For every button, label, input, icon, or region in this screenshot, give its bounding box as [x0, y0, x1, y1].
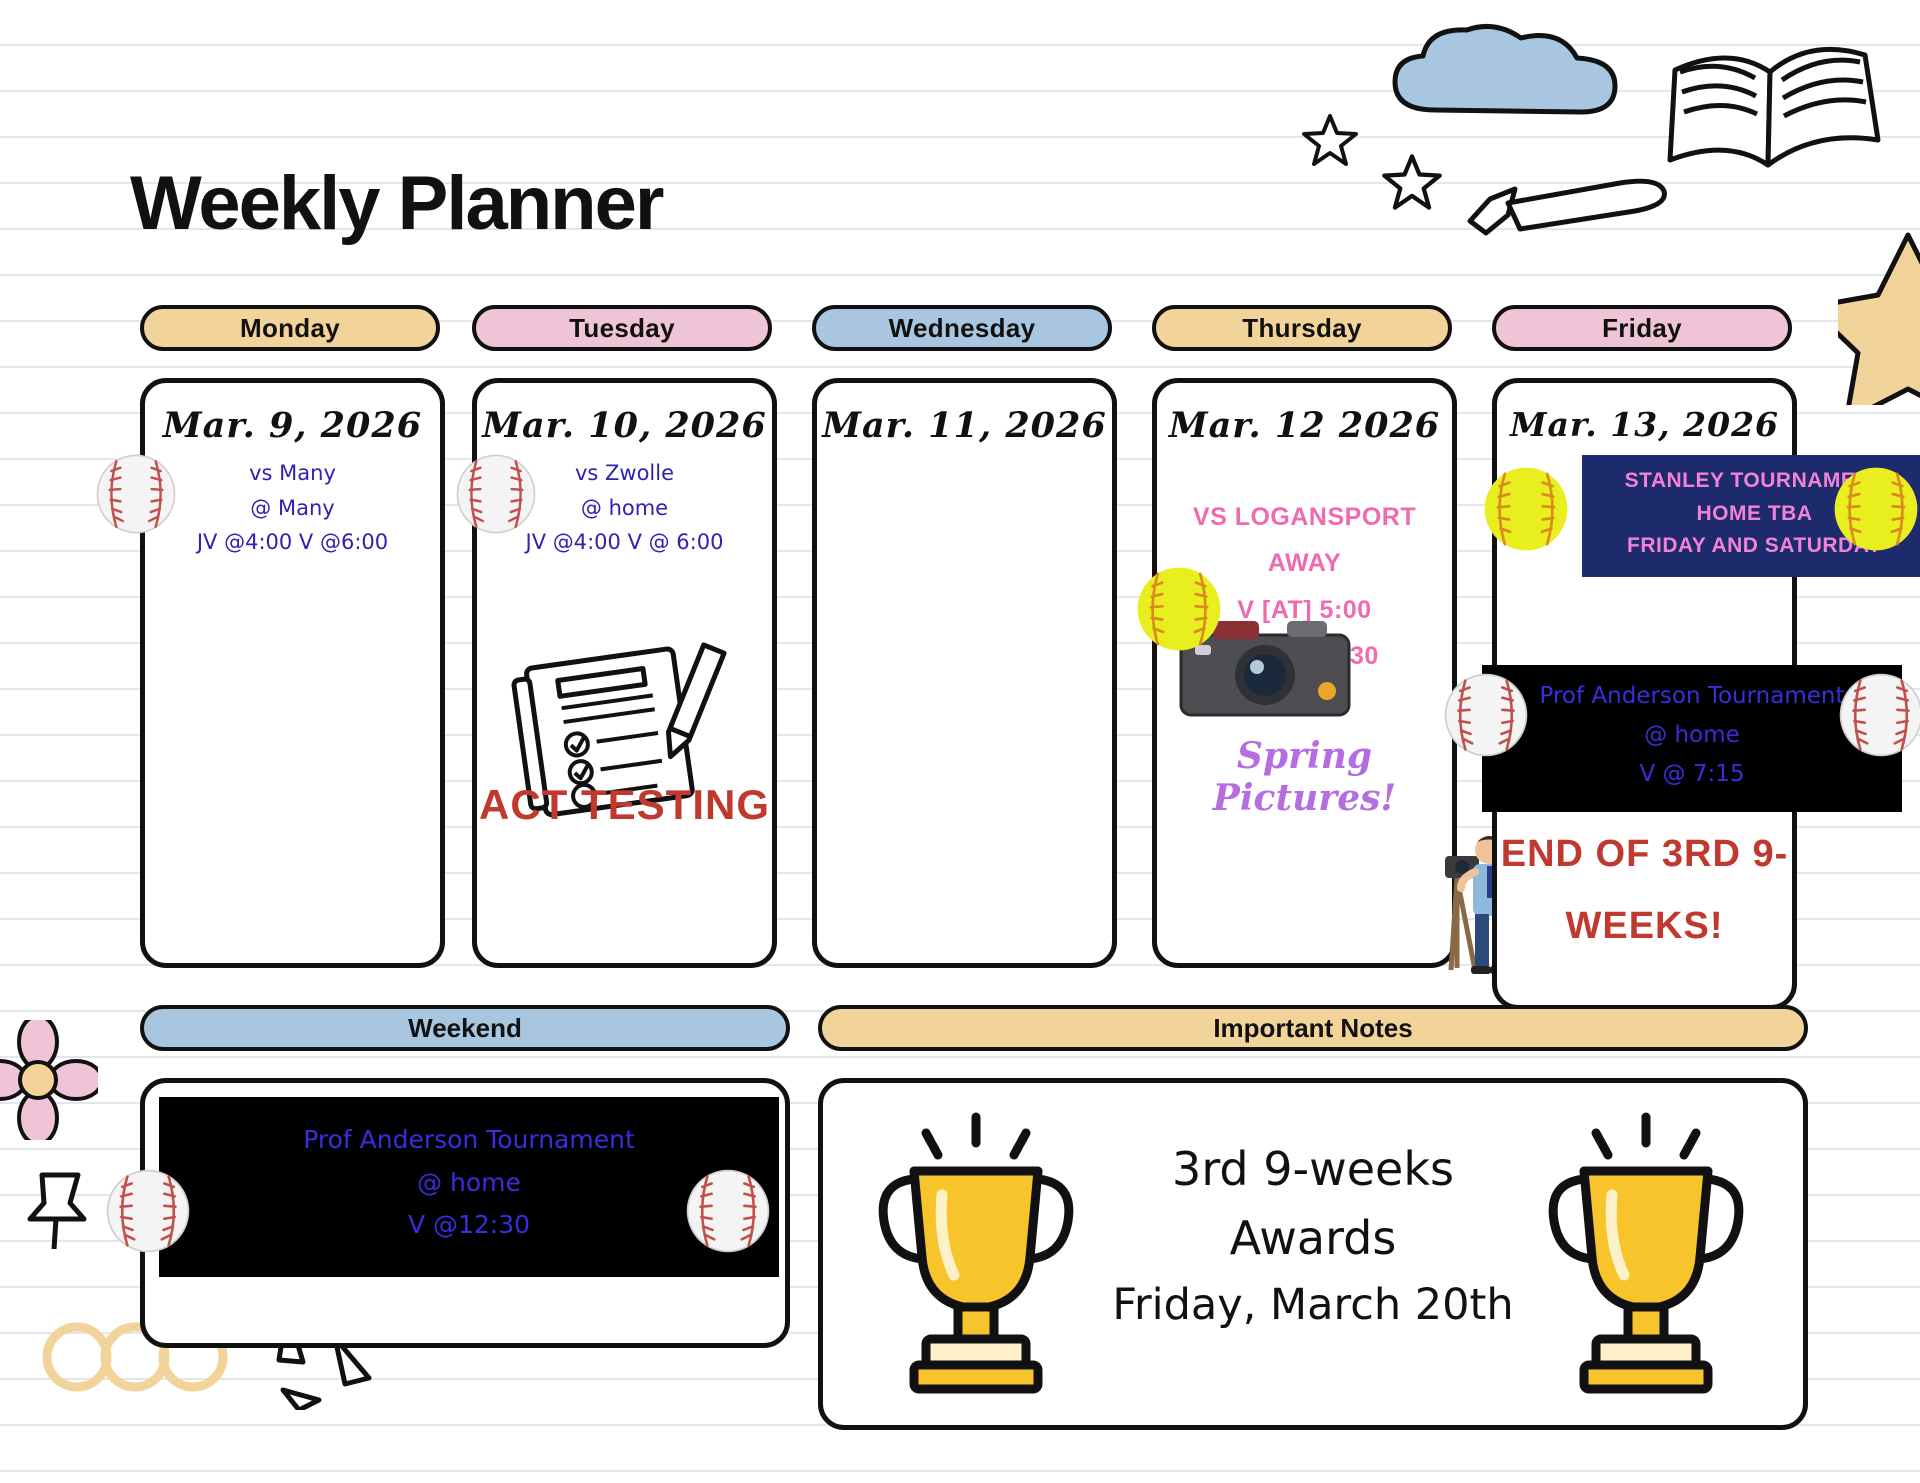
prof-anderson-line: V @ 7:15 — [1482, 755, 1902, 794]
baseball-icon — [685, 1168, 771, 1254]
star-icon — [1380, 150, 1444, 214]
day-card-wednesday[interactable]: Mar. 11, 2026 — [812, 378, 1117, 968]
day-header-label: Friday — [1602, 313, 1682, 344]
softball-icon — [1135, 565, 1223, 653]
end-of-quarter-line: WEEKS! — [1497, 905, 1792, 948]
notes-line: Friday, March 20th — [1078, 1273, 1548, 1338]
baseball-icon — [1443, 672, 1529, 758]
spring-pictures-label: Spring Pictures! — [1157, 735, 1452, 819]
section-header-label: Important Notes — [1213, 1013, 1412, 1044]
day-date: Mar. 13, 2026 — [1497, 405, 1792, 444]
baseball-icon — [1838, 672, 1920, 758]
day-header-thursday: Thursday — [1152, 305, 1452, 351]
act-testing-label: ACT TESTING — [477, 781, 772, 829]
trophy-icon — [868, 1109, 1088, 1399]
section-header-important-notes: Important Notes — [818, 1005, 1808, 1051]
prof-anderson-line: Prof Anderson Tournament — [159, 1119, 779, 1162]
day-header-tuesday: Tuesday — [472, 305, 772, 351]
notes-line: Awards — [1078, 1204, 1548, 1273]
day-header-label: Wednesday — [889, 313, 1036, 344]
day-event-line: JV @4:00 V @ 6:00 — [477, 525, 772, 560]
day-event-line: vs Many — [145, 456, 440, 491]
day-event-line: JV @4:00 V @6:00 — [145, 525, 440, 560]
trophy-icon — [1538, 1109, 1758, 1399]
baseball-icon — [95, 453, 177, 535]
day-header-label: Monday — [240, 313, 340, 344]
softball-icon — [1482, 465, 1570, 553]
day-event-line: @ Many — [145, 491, 440, 526]
prof-anderson-block-friday: Prof Anderson Tournament @ home V @ 7:15 — [1482, 665, 1902, 812]
notes-line: 3rd 9-weeks — [1078, 1135, 1548, 1204]
day-header-label: Tuesday — [569, 313, 675, 344]
section-header-label: Weekend — [408, 1013, 522, 1044]
day-event-line: VS LOGANSPORT — [1157, 494, 1452, 540]
section-header-weekend: Weekend — [140, 1005, 790, 1051]
star-icon — [1300, 110, 1360, 170]
baseball-icon — [105, 1168, 191, 1254]
cloud-icon — [1375, 20, 1655, 140]
end-of-quarter-line: END OF 3RD 9- — [1497, 833, 1792, 876]
day-date: Mar. 9, 2026 — [145, 405, 440, 446]
page-title: Weekly Planner — [130, 160, 662, 247]
pushpin-icon — [20, 1165, 95, 1255]
open-book-icon — [1650, 10, 1900, 220]
pen-icon — [1460, 175, 1675, 245]
baseball-icon — [455, 453, 537, 535]
day-date: Mar. 11, 2026 — [817, 405, 1112, 446]
day-header-friday: Friday — [1492, 305, 1792, 351]
day-date: Mar. 10, 2026 — [477, 405, 772, 446]
softball-icon — [1832, 465, 1920, 553]
big-star-icon — [1838, 225, 1920, 405]
day-date: Mar. 12 2026 — [1157, 405, 1452, 446]
important-notes-card[interactable]: 3rd 9-weeks Awards Friday, March 20th — [818, 1078, 1808, 1430]
prof-anderson-block-weekend: Prof Anderson Tournament @ home V @12:30 — [159, 1097, 779, 1277]
day-card-thursday[interactable]: Mar. 12 2026 VS LOGANSPORT AWAY V [AT] 5… — [1152, 378, 1457, 968]
day-header-wednesday: Wednesday — [812, 305, 1112, 351]
flower-icon — [0, 1020, 98, 1140]
day-header-label: Thursday — [1242, 313, 1361, 344]
day-header-monday: Monday — [140, 305, 440, 351]
day-card-monday[interactable]: Mar. 9, 2026 vs Many @ Many JV @4:00 V @… — [140, 378, 445, 968]
